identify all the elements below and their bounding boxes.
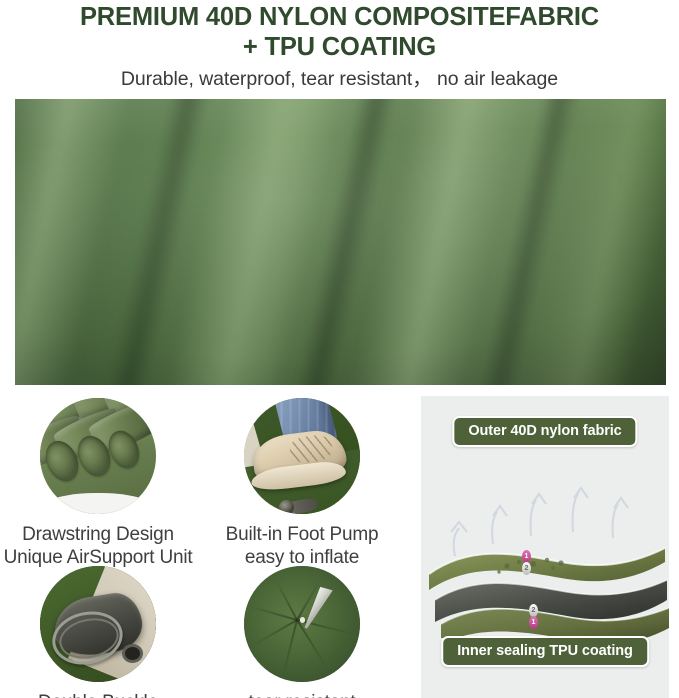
feature-caption: Built-in Foot Pump easy to inflate xyxy=(202,523,402,569)
outer-fabric-badge: Outer 40D nylon fabric xyxy=(452,416,637,447)
feature-caption: tear resistant xyxy=(202,691,402,698)
fabric-layers-diagram xyxy=(421,458,669,638)
feature-caption-line1: Double Buckle xyxy=(38,692,158,698)
feature-caption-line1: Drawstring Design xyxy=(22,524,174,545)
feature-caption: Double Buckle xyxy=(0,691,198,698)
hero-product-image xyxy=(15,99,666,385)
page-subtitle: Durable, waterproof, tear resistant， no … xyxy=(0,62,679,91)
feature-double-buckle: Double Buckle xyxy=(0,566,198,698)
hero-vignette xyxy=(15,99,666,385)
air-flow-arrows xyxy=(451,488,628,556)
feature-foot-pump: Built-in Foot Pump easy to inflate xyxy=(202,398,402,569)
buckle-valve-icon xyxy=(40,566,156,682)
page-title-line1: PREMIUM 40D NYLON COMPOSITEFABRIC xyxy=(80,3,599,31)
feature-caption: Drawstring Design Unique AirSupport Unit xyxy=(0,523,198,569)
inner-coating-badge: Inner sealing TPU coating xyxy=(441,636,649,667)
product-feature-page: PREMIUM 40D NYLON COMPOSITEFABRIC + TPU … xyxy=(0,0,679,698)
feature-caption-line1: tear resistant xyxy=(248,692,355,698)
feature-drawstring-airsupport: Drawstring Design Unique AirSupport Unit xyxy=(0,398,198,569)
layer-marker-1-bottom: 1 xyxy=(529,616,538,629)
page-title: PREMIUM 40D NYLON COMPOSITEFABRIC + TPU … xyxy=(0,2,679,62)
outer-nylon-layer xyxy=(429,548,665,590)
feature-caption-line1: Built-in Foot Pump xyxy=(226,524,379,545)
feature-tear-resistant: tear resistant xyxy=(202,566,402,698)
air-tubes-icon xyxy=(40,398,156,514)
fabric-construction-panel: Outer 40D nylon fabric xyxy=(421,396,669,698)
layers-svg xyxy=(421,458,669,638)
foot-pump-icon xyxy=(244,398,360,514)
tear-test-icon xyxy=(244,566,360,682)
layer-marker-2-top: 2 xyxy=(522,562,531,575)
page-title-line2: + TPU COATING xyxy=(0,32,679,62)
